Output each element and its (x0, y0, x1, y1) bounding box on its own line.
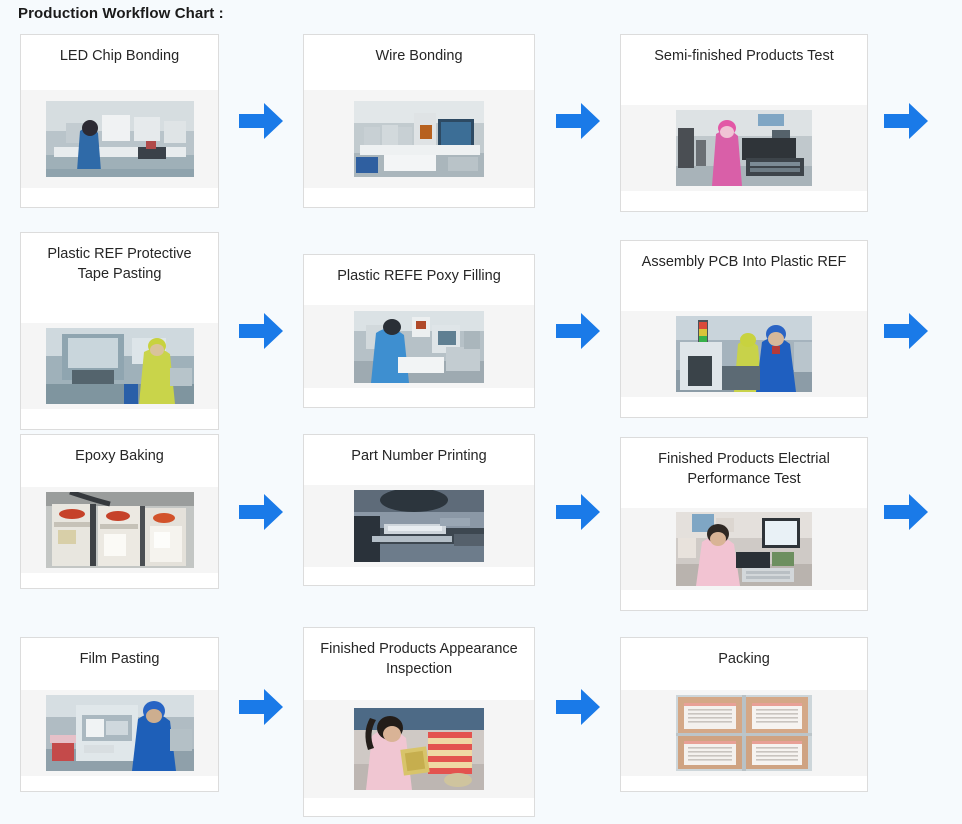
step-title: Part Number Printing (304, 435, 534, 485)
right-arrow-icon (554, 687, 602, 727)
right-arrow-icon (882, 101, 930, 141)
wire-bonding-photo (354, 101, 484, 177)
plastic-refe-poxy-filling-photo (354, 311, 484, 383)
step-title: Finished Products Electrial Performance … (621, 438, 867, 508)
flow-arrow (535, 34, 620, 208)
step-card[interactable]: Assembly PCB Into Plastic REF (620, 240, 868, 418)
production-workflow-page: Production Workflow Chart : LED Chip Bon… (0, 0, 962, 824)
row-left-gutter (0, 627, 20, 628)
right-arrow-icon (237, 492, 285, 532)
step-card[interactable]: Semi-finished Products Test (620, 34, 868, 212)
workflow-row: LED Chip Bonding (0, 34, 962, 232)
led-chip-bonding-photo (46, 101, 194, 177)
flow-arrow (219, 34, 303, 208)
right-arrow-icon (882, 492, 930, 532)
step-media (621, 311, 867, 397)
part-number-printing-photo (354, 490, 484, 562)
step-title: Finished Products Appearance Inspection (304, 628, 534, 700)
step-title: Epoxy Baking (21, 435, 218, 487)
finished-products-electrial-performance-test-photo (676, 512, 812, 586)
step-media (21, 323, 218, 409)
flow-arrow (535, 434, 620, 589)
right-arrow-icon (554, 101, 602, 141)
step-title: Plastic REF Protective Tape Pasting (21, 233, 218, 323)
flow-arrow (868, 34, 962, 208)
step-card[interactable]: Epoxy Baking (20, 434, 219, 589)
step-media (21, 90, 218, 188)
step-title: Wire Bonding (304, 35, 534, 90)
step-title: LED Chip Bonding (21, 35, 218, 90)
right-arrow-icon (237, 101, 285, 141)
workflow-step[interactable]: Finished Products Appearance Inspection (303, 627, 535, 817)
row-left-gutter (0, 434, 20, 435)
finished-products-appearance-inspection-photo (354, 708, 484, 790)
step-media (621, 508, 867, 590)
right-arrow-icon (882, 311, 930, 351)
right-arrow-icon (554, 492, 602, 532)
row-right-gutter (868, 627, 962, 628)
flow-arrow (219, 232, 303, 430)
workflow-row: Plastic REF Protective Tape Pasting (0, 232, 962, 434)
plastic-ref-protective-tape-pasting-photo (46, 328, 194, 404)
semi-finished-products-test-photo (676, 110, 812, 186)
flow-arrow (219, 627, 303, 787)
step-media (304, 700, 534, 798)
step-media (621, 690, 867, 776)
workflow-step[interactable]: Film Pasting (20, 627, 219, 792)
step-card[interactable]: Part Number Printing (303, 434, 535, 586)
step-title: Semi-finished Products Test (621, 35, 867, 105)
step-card[interactable]: Plastic REF Protective Tape Pasting (20, 232, 219, 430)
flow-arrow (535, 627, 620, 787)
step-title: Plastic REFE Poxy Filling (304, 255, 534, 305)
step-media (21, 690, 218, 776)
flow-arrow (535, 232, 620, 430)
step-card[interactable]: Plastic REFE Poxy Filling (303, 254, 535, 408)
step-media (21, 487, 218, 573)
step-media (304, 90, 534, 188)
workflow-step[interactable]: Plastic REFE Poxy Filling (303, 232, 535, 408)
flow-arrow (868, 434, 962, 589)
step-title: Packing (621, 638, 867, 690)
workflow-step[interactable]: Epoxy Baking (20, 434, 219, 589)
right-arrow-icon (237, 687, 285, 727)
workflow-step[interactable]: Plastic REF Protective Tape Pasting (20, 232, 219, 430)
workflow-step[interactable]: Finished Products Electrial Performance … (620, 434, 868, 611)
step-card[interactable]: Finished Products Appearance Inspection (303, 627, 535, 817)
epoxy-baking-photo (46, 492, 194, 568)
workflow-step[interactable]: LED Chip Bonding (20, 34, 219, 208)
workflow-grid: LED Chip Bonding (0, 34, 962, 823)
assembly-pcb-into-plastic-ref-photo (676, 316, 812, 392)
step-title: Assembly PCB Into Plastic REF (621, 241, 867, 311)
page-title: Production Workflow Chart : (18, 5, 224, 22)
row-left-gutter (0, 34, 20, 35)
right-arrow-icon (237, 311, 285, 351)
step-title: Film Pasting (21, 638, 218, 690)
step-media (304, 485, 534, 567)
packing-photo (676, 695, 812, 771)
workflow-step[interactable]: Assembly PCB Into Plastic REF (620, 232, 868, 418)
film-pasting-photo (46, 695, 194, 771)
step-media (304, 305, 534, 388)
flow-arrow (219, 434, 303, 589)
row-left-gutter (0, 232, 20, 233)
workflow-step[interactable]: Packing (620, 627, 868, 792)
flow-arrow (868, 232, 962, 430)
step-card[interactable]: LED Chip Bonding (20, 34, 219, 208)
workflow-step[interactable]: Wire Bonding (303, 34, 535, 208)
step-media (621, 105, 867, 191)
workflow-row: Film Pasting (0, 627, 962, 823)
workflow-step[interactable]: Semi-finished Products Test (620, 34, 868, 212)
step-card[interactable]: Wire Bonding (303, 34, 535, 208)
step-card[interactable]: Finished Products Electrial Performance … (620, 437, 868, 611)
workflow-row: Epoxy Baking (0, 434, 962, 627)
step-card[interactable]: Film Pasting (20, 637, 219, 792)
workflow-step[interactable]: Part Number Printing (303, 434, 535, 586)
right-arrow-icon (554, 311, 602, 351)
step-card[interactable]: Packing (620, 637, 868, 792)
